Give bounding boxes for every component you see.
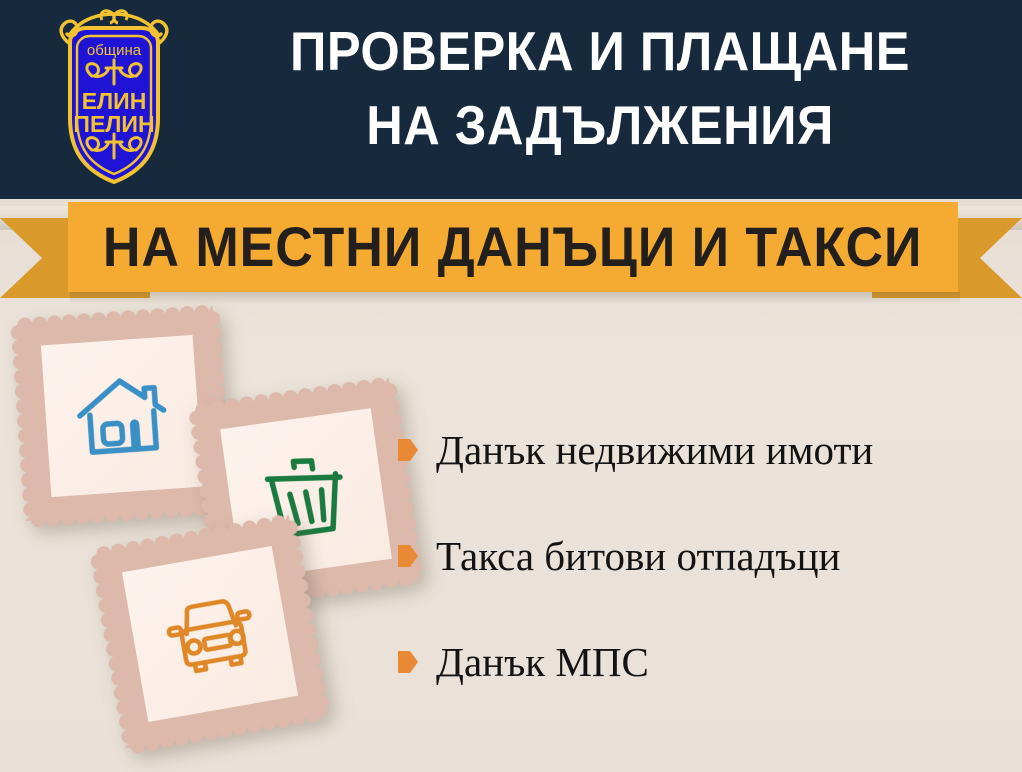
poster-canvas: община ЕЛИН ПЕЛИН ПРОВЕРКА И ПЛАЩАНЕ НА … (0, 0, 1022, 772)
subtitle-ribbon: НА МЕСТНИ ДАНЪЦИ И ТАКСИ (0, 196, 1022, 306)
arrow-bullet-icon (398, 439, 418, 461)
ribbon-label: НА МЕСТНИ ДАНЪЦИ И ТАКСИ (103, 218, 923, 276)
list-item-label: Данък недвижими имоти (436, 428, 873, 472)
page-title-line-1: ПРОВЕРКА И ПЛАЩАНЕ (223, 14, 977, 88)
ribbon-face: НА МЕСТНИ ДАНЪЦИ И ТАКСИ (68, 202, 958, 292)
arrow-bullet-icon (398, 651, 418, 673)
house-icon (69, 363, 176, 470)
list-item-label: Такса битови отпадъци (436, 534, 840, 578)
list-item[interactable]: Такса битови отпадъци (398, 538, 1008, 574)
services-list: Данък недвижими имоти Такса битови отпад… (398, 432, 1008, 680)
page-title-line-2: НА ЗАДЪЛЖЕНИЯ (223, 88, 977, 162)
crest-label-line2: ПЕЛИН (73, 111, 154, 137)
ribbon-shadow (70, 292, 960, 304)
crest-label-small: община (87, 42, 142, 59)
stamp-inner-panel (122, 546, 298, 722)
stamp-inner-panel (41, 335, 203, 497)
header-bar: община ЕЛИН ПЕЛИН ПРОВЕРКА И ПЛАЩАНЕ НА … (0, 0, 1022, 199)
page-title: ПРОВЕРКА И ПЛАЩАНЕ НА ЗАДЪЛЖЕНИЯ (190, 14, 1010, 162)
car-icon (152, 576, 268, 692)
coat-of-arms-shield-icon: община ЕЛИН ПЕЛИН (44, 8, 184, 190)
vehicle-stamp (96, 520, 323, 747)
list-item-label: Данък МПС (436, 640, 649, 684)
arrow-bullet-icon (398, 545, 418, 567)
list-item[interactable]: Данък МПС (398, 644, 1008, 680)
list-item[interactable]: Данък недвижими имоти (398, 432, 1008, 468)
